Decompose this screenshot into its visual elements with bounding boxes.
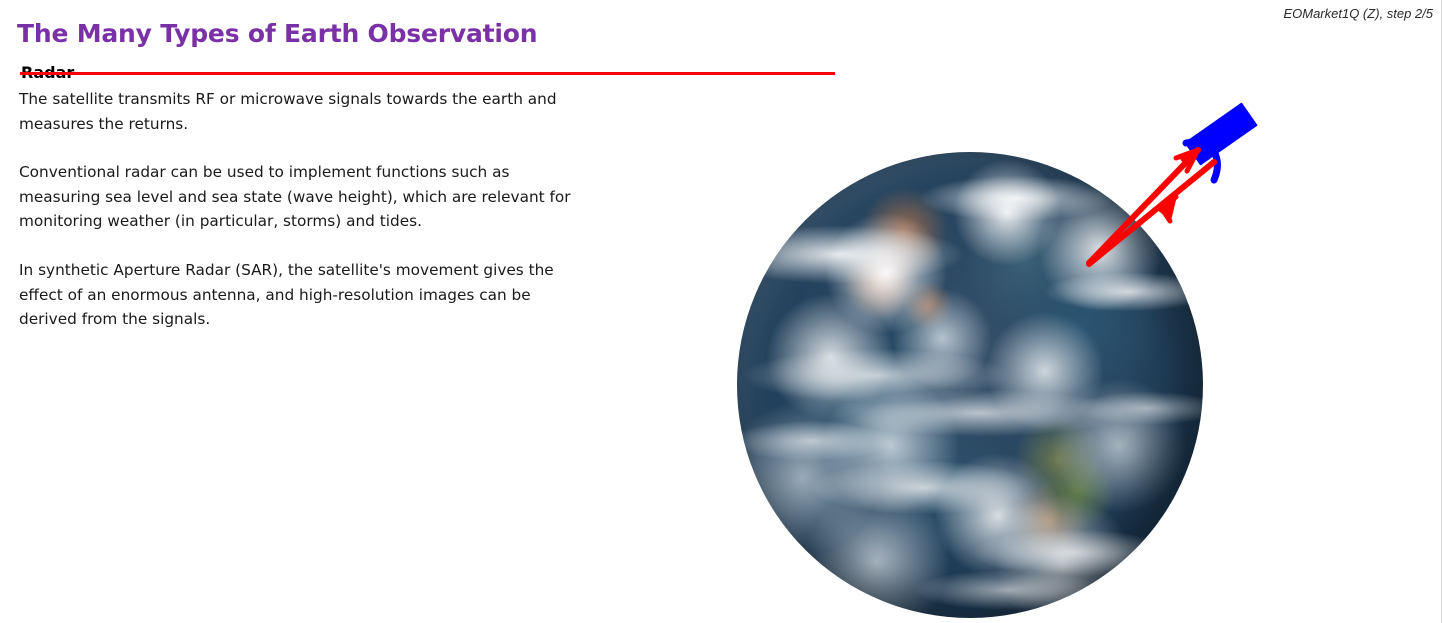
slide-canvas: The Many Types of Earth Observation EOMa… (0, 0, 1442, 623)
section-divider (20, 72, 835, 75)
paragraph-3: In synthetic Aperture Radar (SAR), the s… (19, 258, 589, 332)
body-copy: The satellite transmits RF or microwave … (19, 87, 589, 332)
step-indicator: EOMarket1Q (Z), step 2/5 (1283, 6, 1433, 21)
paragraph-2: Conventional radar can be used to implem… (19, 160, 589, 234)
page-title: The Many Types of Earth Observation (17, 19, 537, 48)
paragraph-1: The satellite transmits RF or microwave … (19, 87, 589, 136)
earth-globe-image (737, 152, 1203, 618)
earth-graphic (737, 152, 1203, 618)
